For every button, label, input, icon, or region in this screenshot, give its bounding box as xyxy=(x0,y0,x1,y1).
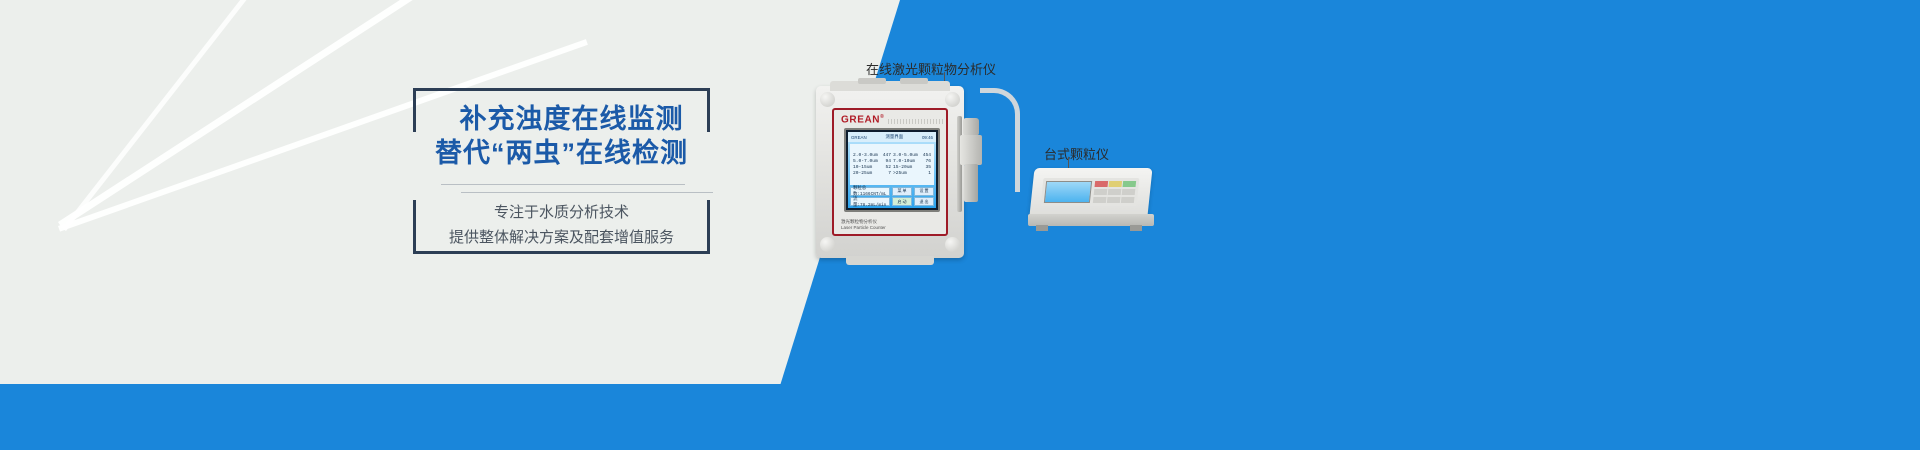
screen-status-row: 流 量:78.2mL/min 启 动 退 出 xyxy=(850,197,934,206)
screen-status-area: 颗粒总数:1166CNT/mL 菜 单 设 置 流 量:78.2mL/min 启… xyxy=(850,187,934,207)
benchtop-particle-counter xyxy=(1032,168,1150,240)
reading-range: 10-15um xyxy=(853,165,872,170)
sensor-bottom-fitting xyxy=(964,164,978,202)
reading-count: 76 xyxy=(925,159,931,164)
screen-reading-row: 15-20um 35 xyxy=(893,165,931,170)
analyzer-latch-knob xyxy=(945,92,960,107)
bench-foot xyxy=(1130,225,1142,231)
reading-range: 2.0-3.0um xyxy=(853,153,878,158)
analyzer-callout-label: 在线激光颗粒物分析仪 xyxy=(866,59,996,78)
screen-title-center: 测量界面 xyxy=(886,134,904,140)
bench-key[interactable] xyxy=(1094,181,1107,187)
screen-start-button[interactable]: 启 动 xyxy=(892,197,912,206)
analyzer-bottom-tab xyxy=(846,256,934,265)
screen-menu-button[interactable]: 菜 单 xyxy=(892,187,912,196)
screen-reading-row: 10-15um 52 xyxy=(853,165,891,170)
screen-flow-rate-field: 流 量:78.2mL/min xyxy=(850,197,890,206)
sample-downpipe xyxy=(1015,150,1020,192)
reading-count: 94 xyxy=(885,159,891,164)
bench-display-screen[interactable] xyxy=(1044,181,1092,203)
analyzer-display-bezel: GREAN 测量界面 09:46 2.0-3.0um 447 3.0-5.0um… xyxy=(844,128,940,212)
analyzer-latch-knob xyxy=(945,237,960,252)
headline-line-1: 补充浊度在线监测 xyxy=(413,102,710,136)
sensor-body xyxy=(960,135,982,165)
screen-reading-row: 2.0-3.0um 447 xyxy=(853,153,891,158)
background-blue-bottom-band xyxy=(0,384,1920,450)
reading-range: >25um xyxy=(893,171,907,176)
screen-title-right: 09:46 xyxy=(922,135,933,140)
reading-count: 454 xyxy=(923,153,931,158)
hero-banner: 补充浊度在线监测 替代“两虫”在线检测 专注于水质分析技术 提供整体解决方案及配… xyxy=(0,0,1920,450)
screen-readings-grid: 2.0-3.0um 447 3.0-5.0um 454 5.0-7.0um 94 xyxy=(850,144,934,185)
headline-frame: 补充浊度在线监测 替代“两虫”在线检测 专注于水质分析技术 提供整体解决方案及配… xyxy=(413,88,710,254)
bench-key[interactable] xyxy=(1121,197,1134,203)
bench-key[interactable] xyxy=(1107,197,1120,203)
analyzer-model-text: 激光颗粒物分析仪 Laser Particle Counter xyxy=(841,219,886,231)
reading-count: 1 xyxy=(928,171,931,176)
analyzer-latch-knob xyxy=(820,237,835,252)
screen-reading-row: 7.0-10um 76 xyxy=(893,159,931,164)
bench-foot xyxy=(1036,225,1048,231)
screen-reading-row: >25um 1 xyxy=(893,171,931,176)
reading-range: 20-25um xyxy=(853,171,872,176)
screen-exit-button[interactable]: 退 出 xyxy=(914,197,934,206)
headline-line-2: 替代“两虫”在线检测 xyxy=(413,136,710,170)
bench-key[interactable] xyxy=(1122,189,1135,195)
frame-border-bottom xyxy=(413,251,710,254)
bench-key[interactable] xyxy=(1093,197,1106,203)
screen-reading-row: 20-25um 7 xyxy=(853,171,891,176)
reading-range: 7.0-10um xyxy=(893,159,915,164)
screen-status-row: 颗粒总数:1166CNT/mL 菜 单 设 置 xyxy=(850,187,934,196)
screen-title-left: GREAN xyxy=(851,135,867,140)
bench-control-face xyxy=(1041,178,1140,206)
subtitle-line-2: 提供整体解决方案及配套增值服务 xyxy=(413,225,710,250)
screen-total-count-field: 颗粒总数:1166CNT/mL xyxy=(850,187,890,196)
headline: 补充浊度在线监测 替代“两虫”在线检测 xyxy=(413,102,710,170)
reading-range: 15-20um xyxy=(893,165,912,170)
analyzer-front-panel: GREAN® GREAN 测量界面 09:46 2.0-3.0um 447 xyxy=(832,108,948,236)
screen-reading-row: 5.0-7.0um 94 xyxy=(853,159,891,164)
reading-count: 52 xyxy=(885,165,891,170)
subtitle: 专注于水质分析技术 提供整体解决方案及配套增值服务 xyxy=(413,200,710,250)
analyzer-model-en: Laser Particle Counter xyxy=(841,225,886,231)
reading-range: 3.0-5.0um xyxy=(893,153,918,158)
bench-key[interactable] xyxy=(1094,189,1107,195)
analyzer-latch-knob xyxy=(820,92,835,107)
screen-settings-button[interactable]: 设 置 xyxy=(914,187,934,196)
screen-title-bar: GREAN 测量界面 09:46 xyxy=(848,132,936,142)
inline-sensor-module xyxy=(960,118,982,202)
frame-border-top xyxy=(413,88,710,91)
headline-divider-upper xyxy=(441,184,685,185)
online-laser-particle-analyzer: GREAN® GREAN 测量界面 09:46 2.0-3.0um 447 xyxy=(816,86,964,258)
reading-range: 5.0-7.0um xyxy=(853,159,878,164)
sample-inlet-pipe xyxy=(980,88,1020,158)
analyzer-brand-mark: ® xyxy=(880,114,884,120)
analyzer-display-screen[interactable]: GREAN 测量界面 09:46 2.0-3.0um 447 3.0-5.0um… xyxy=(848,132,936,208)
bench-keypad[interactable] xyxy=(1093,181,1136,203)
bench-callout-label: 台式颗粒仪 xyxy=(1044,144,1109,163)
reading-count: 35 xyxy=(925,165,931,170)
bench-key[interactable] xyxy=(1109,181,1122,187)
reading-count: 447 xyxy=(883,153,891,158)
screen-reading-row: 3.0-5.0um 454 xyxy=(893,153,931,158)
sensor-top-fitting xyxy=(963,118,979,136)
analyzer-brand-text: GREAN xyxy=(841,114,880,125)
analyzer-panel-vent xyxy=(888,119,944,124)
analyzer-top-lip xyxy=(830,81,950,91)
analyzer-brand-logo: GREAN® xyxy=(841,114,884,125)
analyzer-top-vent-right xyxy=(900,78,928,84)
bench-key[interactable] xyxy=(1123,181,1136,187)
headline-divider-lower xyxy=(461,192,713,193)
subtitle-line-1: 专注于水质分析技术 xyxy=(413,200,710,225)
analyzer-top-vent-left xyxy=(858,78,886,84)
bench-key[interactable] xyxy=(1108,189,1121,195)
reading-count: 7 xyxy=(888,171,891,176)
